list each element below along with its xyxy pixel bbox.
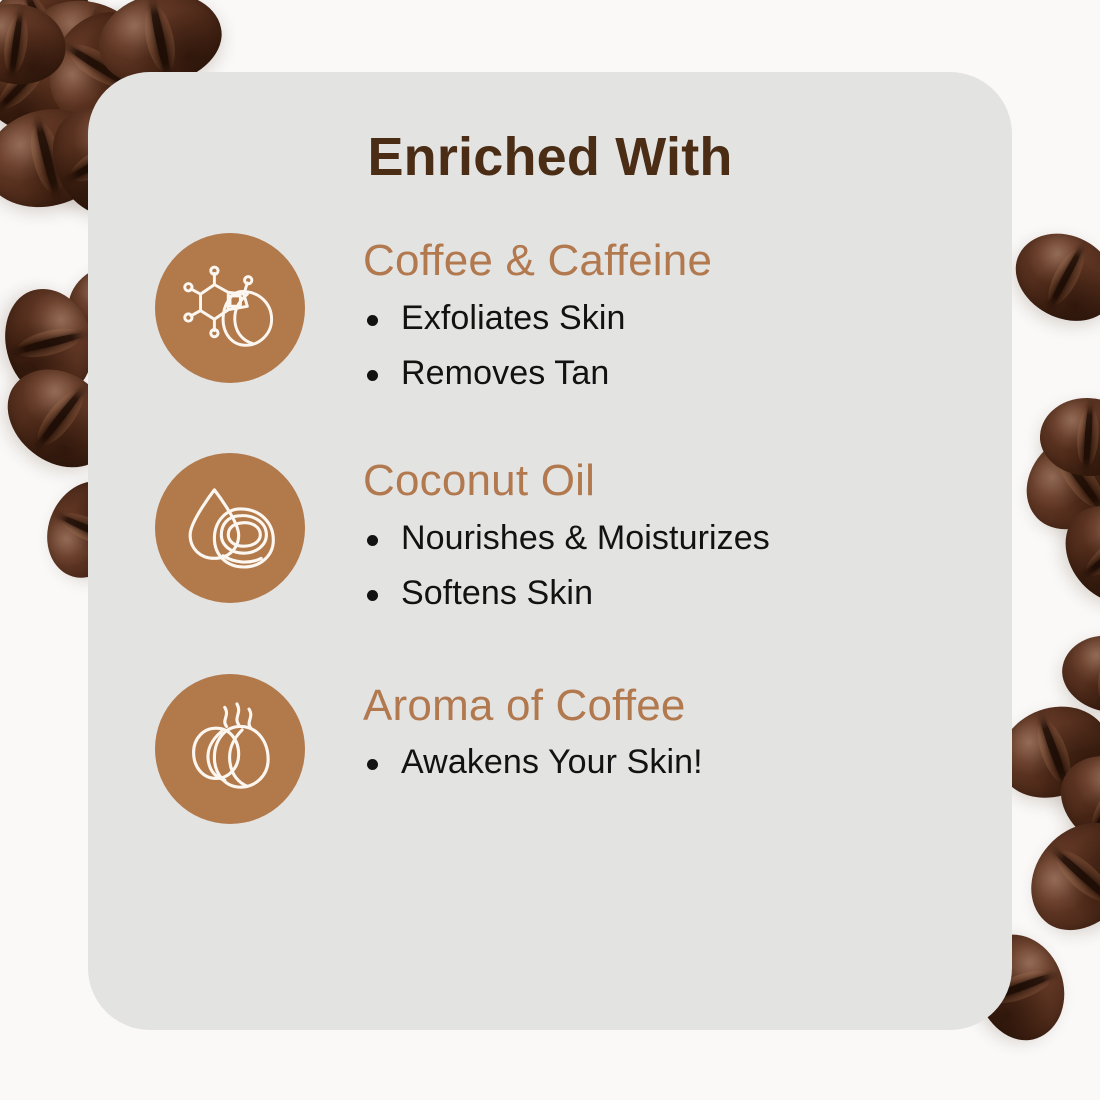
coffee-bean — [1007, 409, 1100, 550]
list-item: Softens Skin — [363, 566, 1012, 621]
coffee-bean — [1037, 395, 1100, 480]
bullet-text: Removes Tan — [401, 354, 609, 392]
coffee-bean — [1043, 737, 1100, 870]
bullet-text: Nourishes & Moisturizes — [401, 519, 770, 557]
coffee-beans-aroma-icon — [155, 674, 305, 824]
benefit-text-coconut-oil: Coconut Oil Nourishes & Moisturizes Soft… — [305, 453, 1012, 621]
list-item: Removes Tan — [363, 346, 1012, 401]
benefit-item-coconut-oil: Coconut Oil Nourishes & Moisturizes Soft… — [88, 453, 1012, 621]
benefit-text-coffee-caffeine: Coffee & Caffeine Exfoliates Skin Remove… — [305, 233, 1012, 401]
coffee-bean — [1009, 801, 1100, 950]
product-benefits-poster: Enriched With — [0, 0, 1100, 1100]
benefit-heading: Aroma of Coffee — [363, 680, 1012, 732]
coffee-bean — [1047, 487, 1100, 621]
caffeine-molecule-coffee-bean-icon — [155, 233, 305, 383]
bullet-text: Awakens Your Skin! — [401, 743, 703, 781]
benefit-heading: Coconut Oil — [363, 455, 1012, 507]
benefit-heading: Coffee & Caffeine — [363, 235, 1012, 287]
bullet-text: Softens Skin — [401, 574, 593, 612]
oil-droplet-coconut-icon — [155, 453, 305, 603]
benefit-text-aroma-of-coffee: Aroma of Coffee Awakens Your Skin! — [305, 674, 1012, 791]
coffee-bean — [1055, 627, 1100, 721]
list-item: Exfoliates Skin — [363, 291, 1012, 346]
benefits-card: Enriched With — [88, 72, 1012, 1030]
bullet-dot — [367, 590, 378, 601]
bullet-dot — [367, 315, 378, 326]
benefit-bullets: Awakens Your Skin! — [363, 735, 1012, 790]
coffee-bean — [1001, 216, 1100, 337]
benefits-list: Coffee & Caffeine Exfoliates Skin Remove… — [88, 233, 1012, 823]
bullet-dot — [367, 370, 378, 381]
bullet-dot — [367, 759, 378, 770]
bullet-dot — [367, 535, 378, 546]
list-item: Nourishes & Moisturizes — [363, 511, 1012, 566]
benefit-item-coffee-caffeine: Coffee & Caffeine Exfoliates Skin Remove… — [88, 233, 1012, 401]
benefit-item-aroma-of-coffee: Aroma of Coffee Awakens Your Skin! — [88, 674, 1012, 824]
coffee-bean — [0, 19, 88, 150]
coffee-bean — [0, 0, 71, 91]
benefit-bullets: Nourishes & Moisturizes Softens Skin — [363, 511, 1012, 621]
page-title: Enriched With — [88, 72, 1012, 187]
bullet-text: Exfoliates Skin — [401, 299, 626, 337]
list-item: Awakens Your Skin! — [363, 735, 1012, 790]
benefit-bullets: Exfoliates Skin Removes Tan — [363, 291, 1012, 401]
